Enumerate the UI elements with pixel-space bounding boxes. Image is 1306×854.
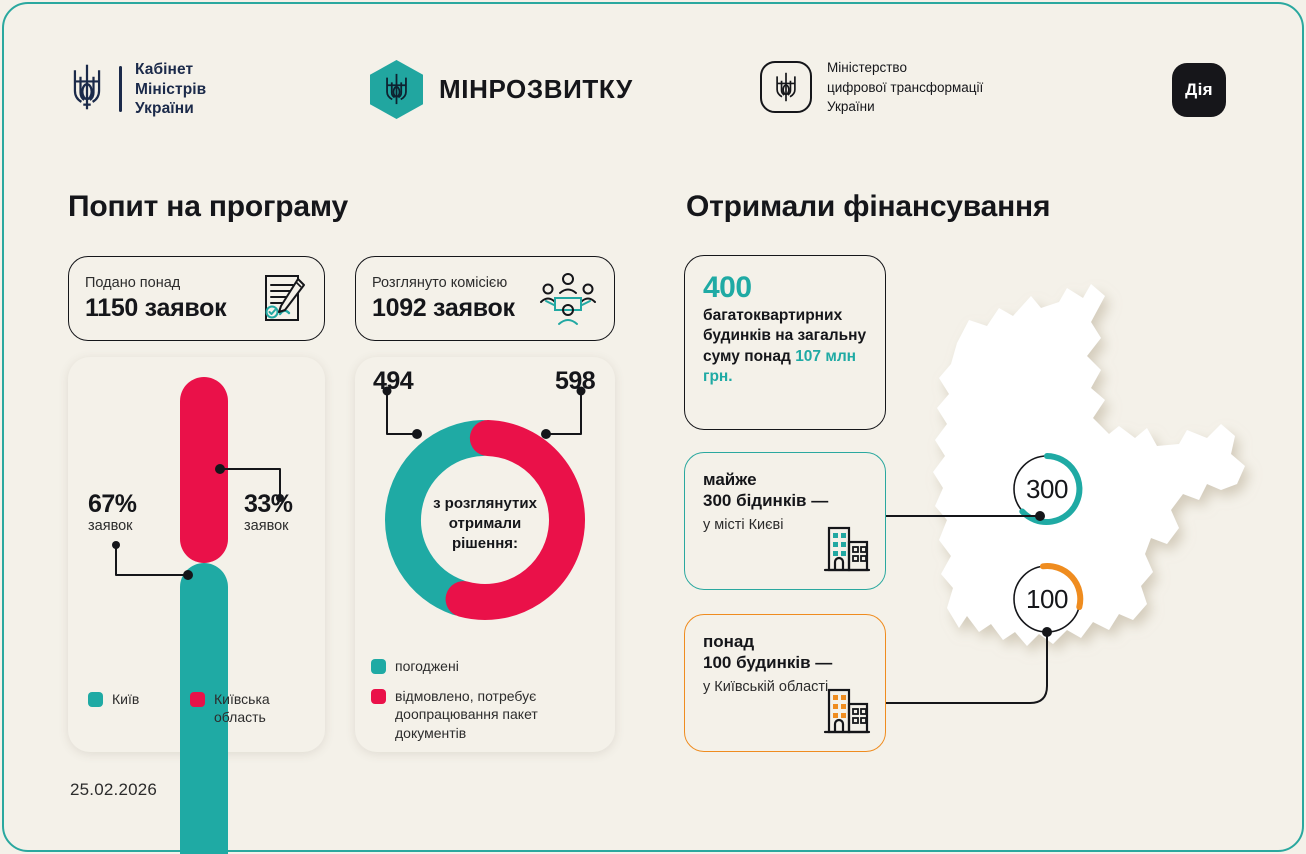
logo-minrozvytku: МІНРОЗВИТКУ — [370, 60, 633, 119]
tryzub-rounded-icon — [760, 61, 812, 113]
section-title-demand: Попит на програму — [68, 190, 348, 224]
map-badge-oblast-100: 100 — [1010, 562, 1084, 636]
mcd-line-1: Міністерство — [827, 58, 983, 78]
cmu-line-3: України — [135, 99, 206, 119]
card-100-lead: понад 100 будинків — — [703, 631, 869, 674]
header: Кабінет Міністрів України МІНРОЗВИТКУ — [0, 0, 1306, 160]
cmu-line-2: Міністрів — [135, 80, 206, 100]
logo-diia: Дія — [1172, 63, 1226, 117]
logo-divider — [119, 66, 122, 112]
card-applications-reviewed: Розглянуто комісією 1092 заявок — [355, 256, 615, 341]
building-icon-teal — [821, 524, 871, 577]
reviewed-label: Розглянуто комісією — [372, 275, 515, 292]
chart-panel-applications-share: 67% заявок 33% заявок Київ Київська обла… — [68, 357, 325, 752]
commission-people-icon — [538, 270, 598, 328]
card-funded-kyiv-city: майже 300 бідинків — у місті Києві — [684, 452, 886, 590]
map-badge-kyiv-300: 300 — [1010, 452, 1084, 526]
mcd-logo-text: Міністерство цифрової трансформації Укра… — [827, 58, 983, 117]
minrozvytku-label: МІНРОЗВИТКУ — [439, 74, 633, 105]
card-300-lead: майже 300 бідинків — — [703, 469, 869, 512]
building-icon-orange — [821, 686, 871, 739]
submitted-label: Подано понад — [85, 275, 226, 292]
legend-swatch-approved — [371, 659, 386, 674]
card-funded-400: 400 багатоквартирних будинків на загальн… — [684, 255, 886, 430]
section-title-funding: Отримали фінансування — [686, 190, 1050, 224]
legend-swatch-kyiv — [88, 692, 103, 707]
card-applications-submitted: Подано понад 1150 заявок — [68, 256, 325, 341]
card-300-lead-line2: 300 бідинків — — [703, 490, 869, 511]
card-400-number: 400 — [703, 272, 869, 304]
diia-label: Дія — [1185, 80, 1213, 100]
kyiv-oblast-map — [895, 248, 1295, 748]
legend-swatch-denied — [371, 689, 386, 704]
publication-date: 25.02.2026 — [70, 780, 157, 800]
document-pen-icon — [254, 270, 308, 328]
legend-label-oblast: Київська область — [214, 690, 310, 727]
chart-panel-decisions: 494 598 з розглянутих отримали рішення: … — [355, 357, 615, 752]
reviewed-value: 1092 заявок — [372, 295, 515, 323]
cmu-line-1: Кабінет — [135, 60, 206, 80]
legend-swatch-oblast — [190, 692, 205, 707]
mcd-line-2: цифрової трансформації — [827, 78, 983, 98]
logo-ministry-digital: Міністерство цифрової трансформації Укра… — [760, 58, 983, 117]
cmu-logo-text: Кабінет Міністрів України — [135, 60, 206, 119]
tryzub-hex-icon — [370, 60, 423, 119]
bar-legend-item-kyiv: Київ — [88, 690, 139, 708]
bar-legend-item-oblast: Київська область — [190, 690, 310, 727]
legend-label-kyiv: Київ — [112, 690, 139, 708]
map-badge-100-value: 100 — [1010, 562, 1084, 636]
donut-legend-item-approved: погоджені — [371, 657, 459, 675]
legend-label-denied: відмовлено, потребує доопрацювання пакет… — [395, 687, 607, 742]
card-funded-kyiv-oblast: понад 100 будинків — у Київській області — [684, 614, 886, 752]
submitted-value: 1150 заявок — [85, 295, 226, 323]
map-badge-300-value: 300 — [1010, 452, 1084, 526]
infographic-root: Кабінет Міністрів України МІНРОЗВИТКУ — [0, 0, 1306, 854]
mcd-line-3: України — [827, 97, 983, 117]
legend-label-approved: погоджені — [395, 657, 459, 675]
card-400-text: багатоквартирних будинків на загальну су… — [703, 306, 869, 388]
tryzub-icon — [68, 61, 106, 118]
logo-cabinet-of-ministers: Кабінет Міністрів України — [68, 60, 206, 119]
donut-legend-item-denied: відмовлено, потребує доопрацювання пакет… — [371, 687, 607, 742]
card-300-lead-line1: майже — [703, 469, 869, 490]
card-100-lead-line2: 100 будинків — — [703, 652, 869, 673]
card-100-lead-line1: понад — [703, 631, 869, 652]
